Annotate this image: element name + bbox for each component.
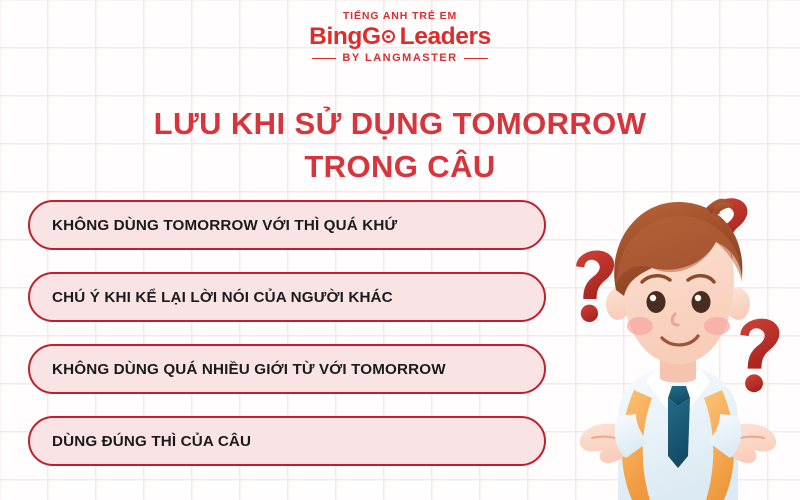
eye-right xyxy=(692,291,711,313)
logo-wordmark-right: Leaders xyxy=(400,25,491,50)
logo-wordmark: BingG Leaders xyxy=(309,25,491,50)
brand-logo: TIẾNG ANH TRẺ EM BingG Leaders BY LANGMA… xyxy=(0,11,800,64)
logo-wordmark-left: BingG xyxy=(309,25,381,50)
list-item-label: KHÔNG DÙNG QUÁ NHIỀU GIỚI TỪ VỚI TOMORRO… xyxy=(52,361,446,378)
page-title-line-1: LƯU KHI SỬ DỤNG TOMORROW xyxy=(0,103,800,146)
list-item[interactable]: DÙNG ĐÚNG THÌ CỦA CÂU xyxy=(28,416,546,466)
eye-left xyxy=(647,291,666,313)
poster-canvas: TIẾNG ANH TRẺ EM BingG Leaders BY LANGMA… xyxy=(0,0,800,500)
list-item[interactable]: KHÔNG DÙNG QUÁ NHIỀU GIỚI TỪ VỚI TOMORRO… xyxy=(28,344,546,394)
list-item[interactable]: CHÚ Ý KHI KỂ LẠI LỜI NÓI CỦA NGƯỜI KHÁC xyxy=(28,272,546,322)
logo-byline: BY LANGMASTER xyxy=(342,53,457,64)
question-mark-icon xyxy=(740,319,779,393)
logo-byline-row: BY LANGMASTER xyxy=(0,53,800,64)
list-item-label: CHÚ Ý KHI KỂ LẠI LỜI NÓI CỦA NGƯỜI KHÁC xyxy=(52,289,393,306)
tips-list: KHÔNG DÙNG TOMORROW VỚI THÌ QUÁ KHỨ CHÚ … xyxy=(28,200,546,488)
logo-tagline: TIẾNG ANH TRẺ EM xyxy=(0,11,800,22)
list-item-label: DÙNG ĐÚNG THÌ CỦA CÂU xyxy=(52,433,251,450)
page-title: LƯU KHI SỬ DỤNG TOMORROW TRONG CÂU xyxy=(0,103,800,189)
page-title-line-2: TRONG CÂU xyxy=(0,146,800,189)
confused-schoolboy-illustration xyxy=(556,186,800,500)
byline-rule-right xyxy=(464,58,488,60)
list-item[interactable]: KHÔNG DÙNG TOMORROW VỚI THÌ QUÁ KHỨ xyxy=(28,200,546,250)
list-item-label: KHÔNG DÙNG TOMORROW VỚI THÌ QUÁ KHỨ xyxy=(52,217,397,234)
bullseye-circle-icon xyxy=(382,30,395,43)
byline-rule-left xyxy=(312,58,336,60)
